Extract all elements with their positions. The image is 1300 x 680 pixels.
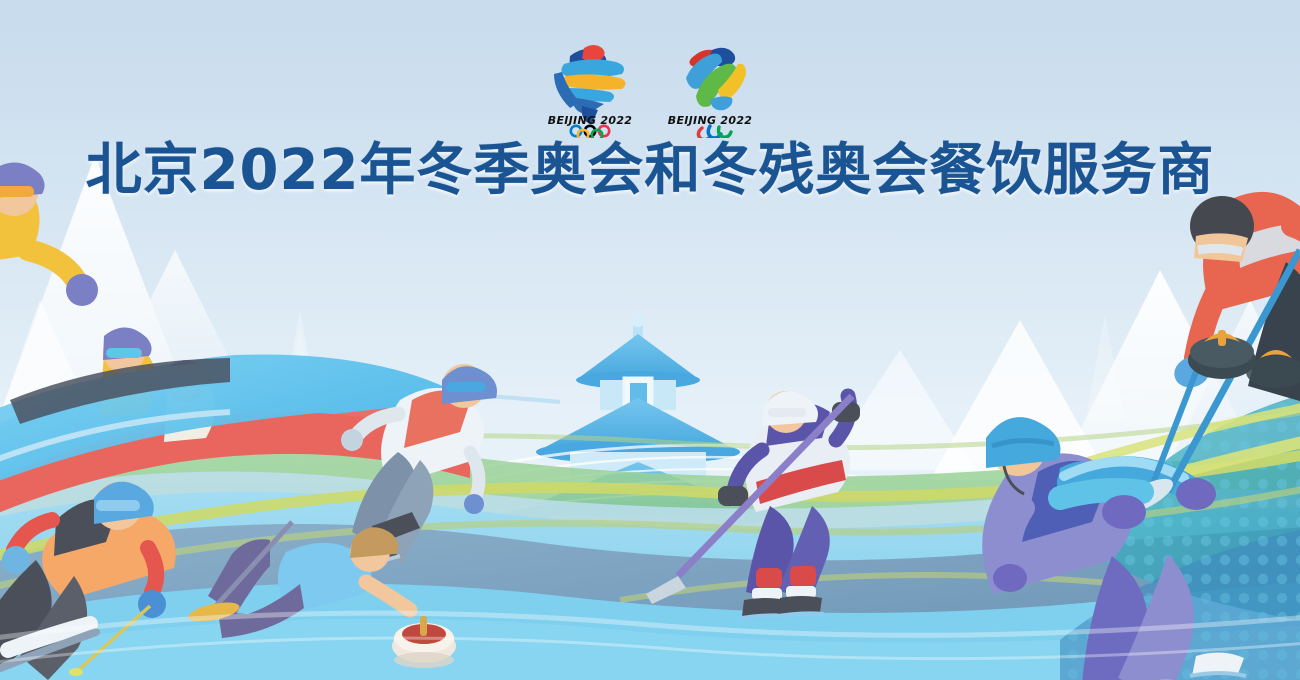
- olympic-rings-icon: [571, 126, 609, 138]
- emblem-row: BEIJING 2022: [0, 34, 1300, 138]
- agitos-icon: [698, 126, 731, 138]
- paralympic-emblem-graphic: BEIJING 2022: [660, 34, 760, 138]
- beijing-2022-banner: BEIJING 2022: [0, 0, 1300, 680]
- banner-title-wrap: 北京2022年冬季奥会和冬残奥会餐饮服务商: [0, 142, 1300, 201]
- winter-dream-ribbon-icon: [554, 45, 626, 124]
- flying-high-ribbon-icon: [686, 48, 746, 111]
- olympic-emblem: BEIJING 2022: [540, 34, 640, 138]
- olympic-emblem-graphic: BEIJING 2022: [540, 34, 640, 138]
- paralympic-emblem: BEIJING 2022: [660, 34, 760, 138]
- banner-title: 北京2022年冬季奥会和冬残奥会餐饮服务商: [86, 142, 1215, 201]
